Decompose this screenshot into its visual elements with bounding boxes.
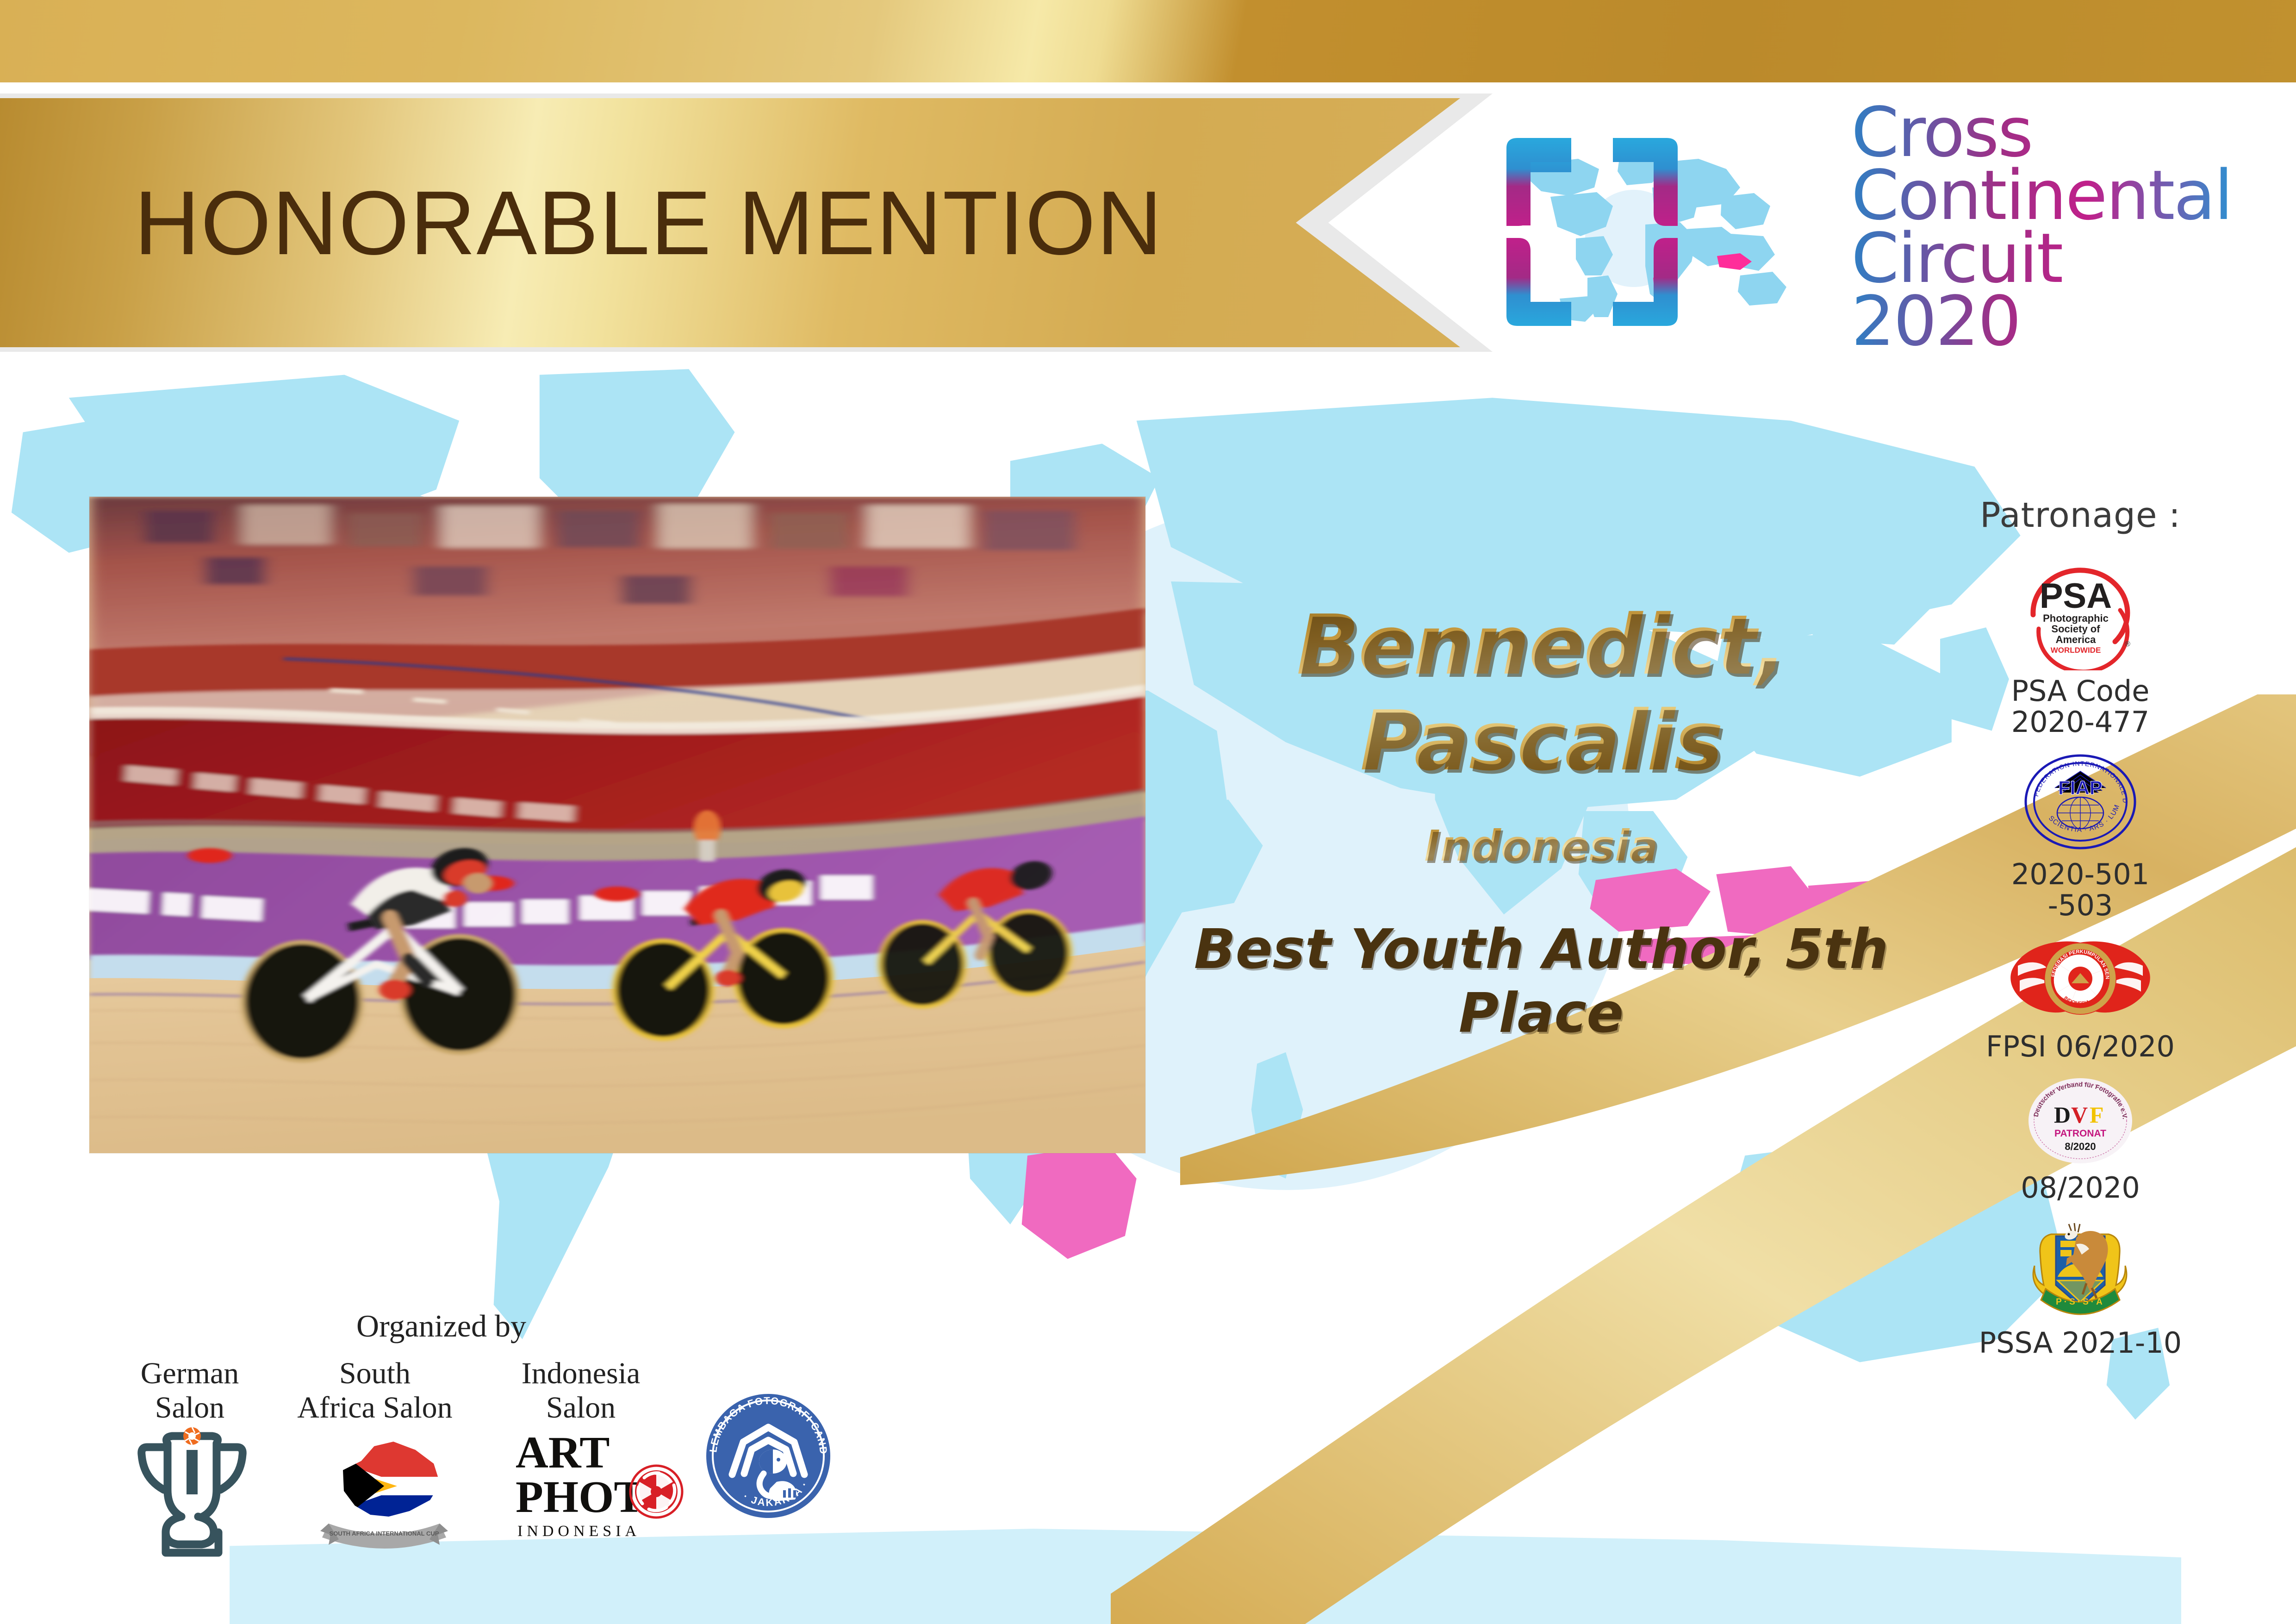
logo-line-3: Circuit [1851, 227, 2232, 290]
german-salon-trophy-logo [134, 1421, 250, 1562]
lembaga-fotografi-candra-naya-logo: LEMBAGA FOTOGRAFI CANDRA NAYA · JAKARTA … [703, 1391, 833, 1523]
fiap-logo: FEDERATION INTERNATIONALE DE L'ART PHOTO… [1932, 752, 2228, 854]
svg-text:PSA: PSA [2040, 576, 2112, 616]
fpsi-logo: FEDERASI PERKUMPULAN SENI FOTO INDONESIA [1932, 933, 2228, 1026]
pssa-logo: P·S·S·A [1932, 1216, 2228, 1322]
south-africa-salon-flag-logo: SOUTH AFRICA INTERNATIONAL CUP [315, 1419, 454, 1560]
organizer-label-south-africa: South Africa Salon [287, 1356, 463, 1425]
svg-text:INDONESIA: INDONESIA [517, 1523, 641, 1540]
svg-text:V: V [2071, 1102, 2088, 1128]
svg-text:®: ® [2125, 640, 2130, 648]
dvf-logo: Deutscher Verband für Fotografie e.V. D … [1932, 1074, 2228, 1167]
fpsi-code-caption: FPSI 06/2020 [1932, 1031, 2228, 1062]
dvf-code-caption: 08/2020 [1932, 1173, 2228, 1204]
psa-code-caption: PSA Code 2020-477 [1932, 676, 2228, 738]
cross-continental-circuit-logo: Cross Continental Circuit 2020 [1481, 118, 2277, 336]
track-cycling-velodrome-photo [89, 497, 1145, 1153]
award-title: HONORABLE MENTION [134, 171, 1163, 275]
patronage-item-psa: PSA Photographic Society of America WORL… [1932, 559, 2228, 738]
aperture-icon [183, 1427, 201, 1445]
svg-text:PATRONAT: PATRONAT [2054, 1128, 2106, 1139]
fiap-code-caption: 2020-501 -503 [1932, 859, 2228, 921]
photo-svg [89, 497, 1145, 1153]
organizer-label-indonesia: Indonesia Salon [504, 1356, 657, 1425]
banner-ribbon: HONORABLE MENTION [0, 98, 1462, 347]
svg-text:PHOT: PHOT [516, 1472, 644, 1522]
svg-text:Photographic: Photographic [2043, 612, 2109, 624]
patronage-item-fpsi: FEDERASI PERKUMPULAN SENI FOTO INDONESIA… [1932, 933, 2228, 1062]
svg-text:P·S·S·A: P·S·S·A [2056, 1297, 2105, 1307]
award-banner: HONORABLE MENTION [0, 94, 1495, 352]
patronage-column: Patronage : PSA Photographic Society of … [1932, 495, 2228, 1365]
aperture-icon [630, 1466, 682, 1518]
patronage-item-fiap: FEDERATION INTERNATIONALE DE L'ART PHOTO… [1932, 752, 2228, 921]
ribbon-banner: SOUTH AFRICA INTERNATIONAL CUP [320, 1524, 448, 1549]
svg-text:Society of: Society of [2051, 623, 2100, 635]
svg-text:WORLDWIDE: WORLDWIDE [2051, 646, 2101, 655]
patronage-item-dvf: Deutscher Verband für Fotografie e.V. D … [1932, 1074, 2228, 1204]
winner-country: Indonesia [1166, 821, 1916, 871]
psa-logo: PSA Photographic Society of America WORL… [1932, 559, 2228, 670]
svg-text:8/2020: 8/2020 [2065, 1141, 2096, 1152]
logo-mark-svg [1481, 123, 1833, 331]
svg-text:D: D [2054, 1102, 2071, 1128]
organizer-logos: German Salon South Africa Salon Indonesi… [106, 1333, 856, 1611]
logo-line-2: Continental [1851, 164, 2232, 227]
logo-map-mark [1481, 123, 1833, 331]
art-photo-indonesia-logo: ART PHOT IND [509, 1421, 703, 1553]
winner-name: Bennedict, Pascalis [1166, 597, 1916, 789]
organizer-label-german: German Salon [125, 1356, 255, 1425]
logo-line-1: Cross [1851, 101, 2232, 164]
patronage-item-pssa: P·S·S·A PSSA 2021-10 [1932, 1216, 2228, 1359]
patronage-title: Patronage : [1932, 495, 2228, 535]
svg-text:America: America [2056, 634, 2097, 645]
pssa-code-caption: PSSA 2021-10 [1932, 1328, 2228, 1359]
winner-award: Best Youth Author, 5th Place [1166, 917, 1916, 1045]
svg-text:ART: ART [516, 1428, 610, 1478]
top-gold-strip [0, 0, 2296, 82]
logo-wordmark: Cross Continental Circuit 2020 [1851, 101, 2232, 353]
svg-text:FIAP: FIAP [2058, 777, 2103, 799]
svg-text:F: F [2090, 1102, 2104, 1128]
svg-text:SOUTH AFRICA INTERNATIONAL CUP: SOUTH AFRICA INTERNATIONAL CUP [330, 1530, 439, 1537]
winner-details: Bennedict, Pascalis Indonesia Best Youth… [1166, 597, 1916, 1045]
logo-line-4: 2020 [1851, 290, 2232, 353]
